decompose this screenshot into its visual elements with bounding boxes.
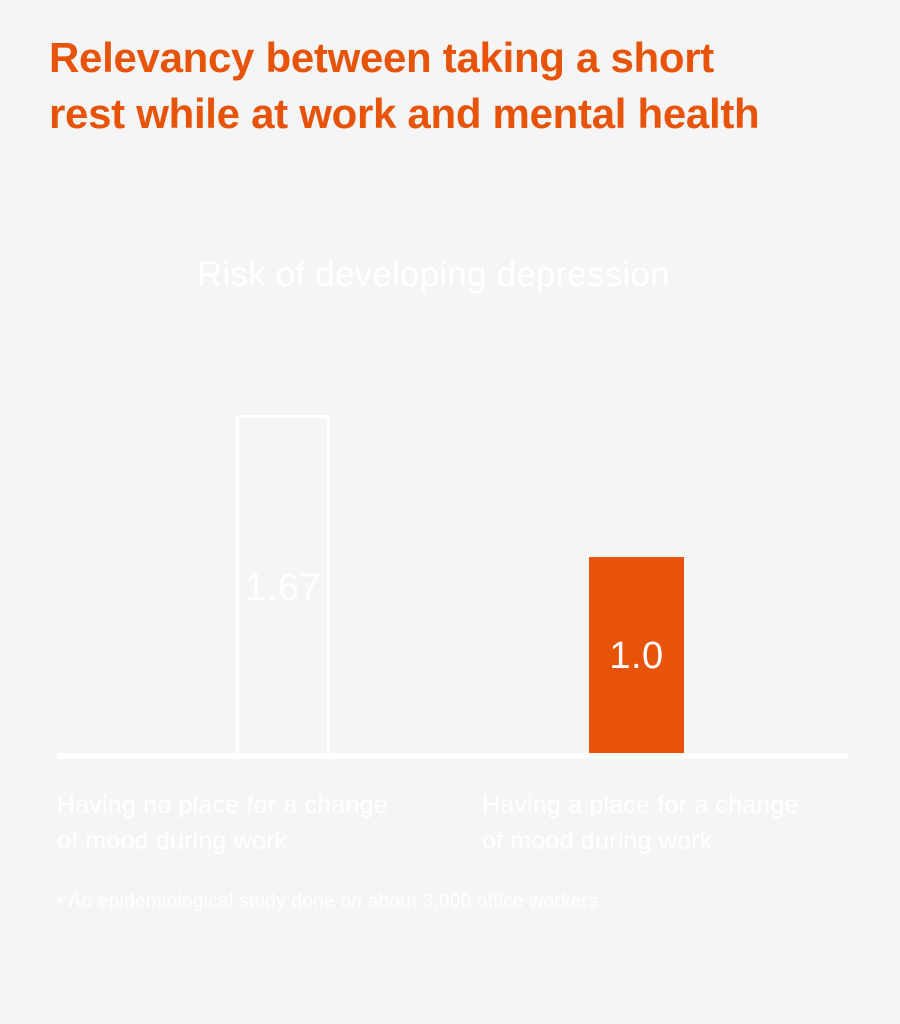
plot-area: 1.67 1.0 — [0, 0, 900, 1024]
x-axis-line — [57, 753, 848, 759]
category-label-no-place-line-2: of mood during work — [57, 823, 457, 859]
category-label-has-place-line-2: of mood during work — [482, 823, 882, 859]
bar-value-label-0: 1.67 — [239, 569, 327, 607]
category-label-has-place: Having a place for a change of mood duri… — [482, 787, 882, 859]
bar-has-place[interactable]: 1.0 — [589, 557, 684, 756]
category-label-no-place: Having no place for a change of mood dur… — [57, 787, 457, 859]
bar-no-place[interactable]: 1.67 — [236, 415, 330, 756]
slide-canvas: Relevancy between taking a short rest wh… — [0, 0, 900, 1024]
category-label-no-place-line-1: Having no place for a change — [57, 787, 457, 823]
category-label-has-place-line-1: Having a place for a change — [482, 787, 882, 823]
bar-value-label-1: 1.0 — [589, 637, 684, 675]
chart-footnote: • An epidemiological study done on about… — [57, 889, 598, 915]
bar-chart: Risk of developing depression 1.67 1.0 H… — [0, 0, 900, 1024]
